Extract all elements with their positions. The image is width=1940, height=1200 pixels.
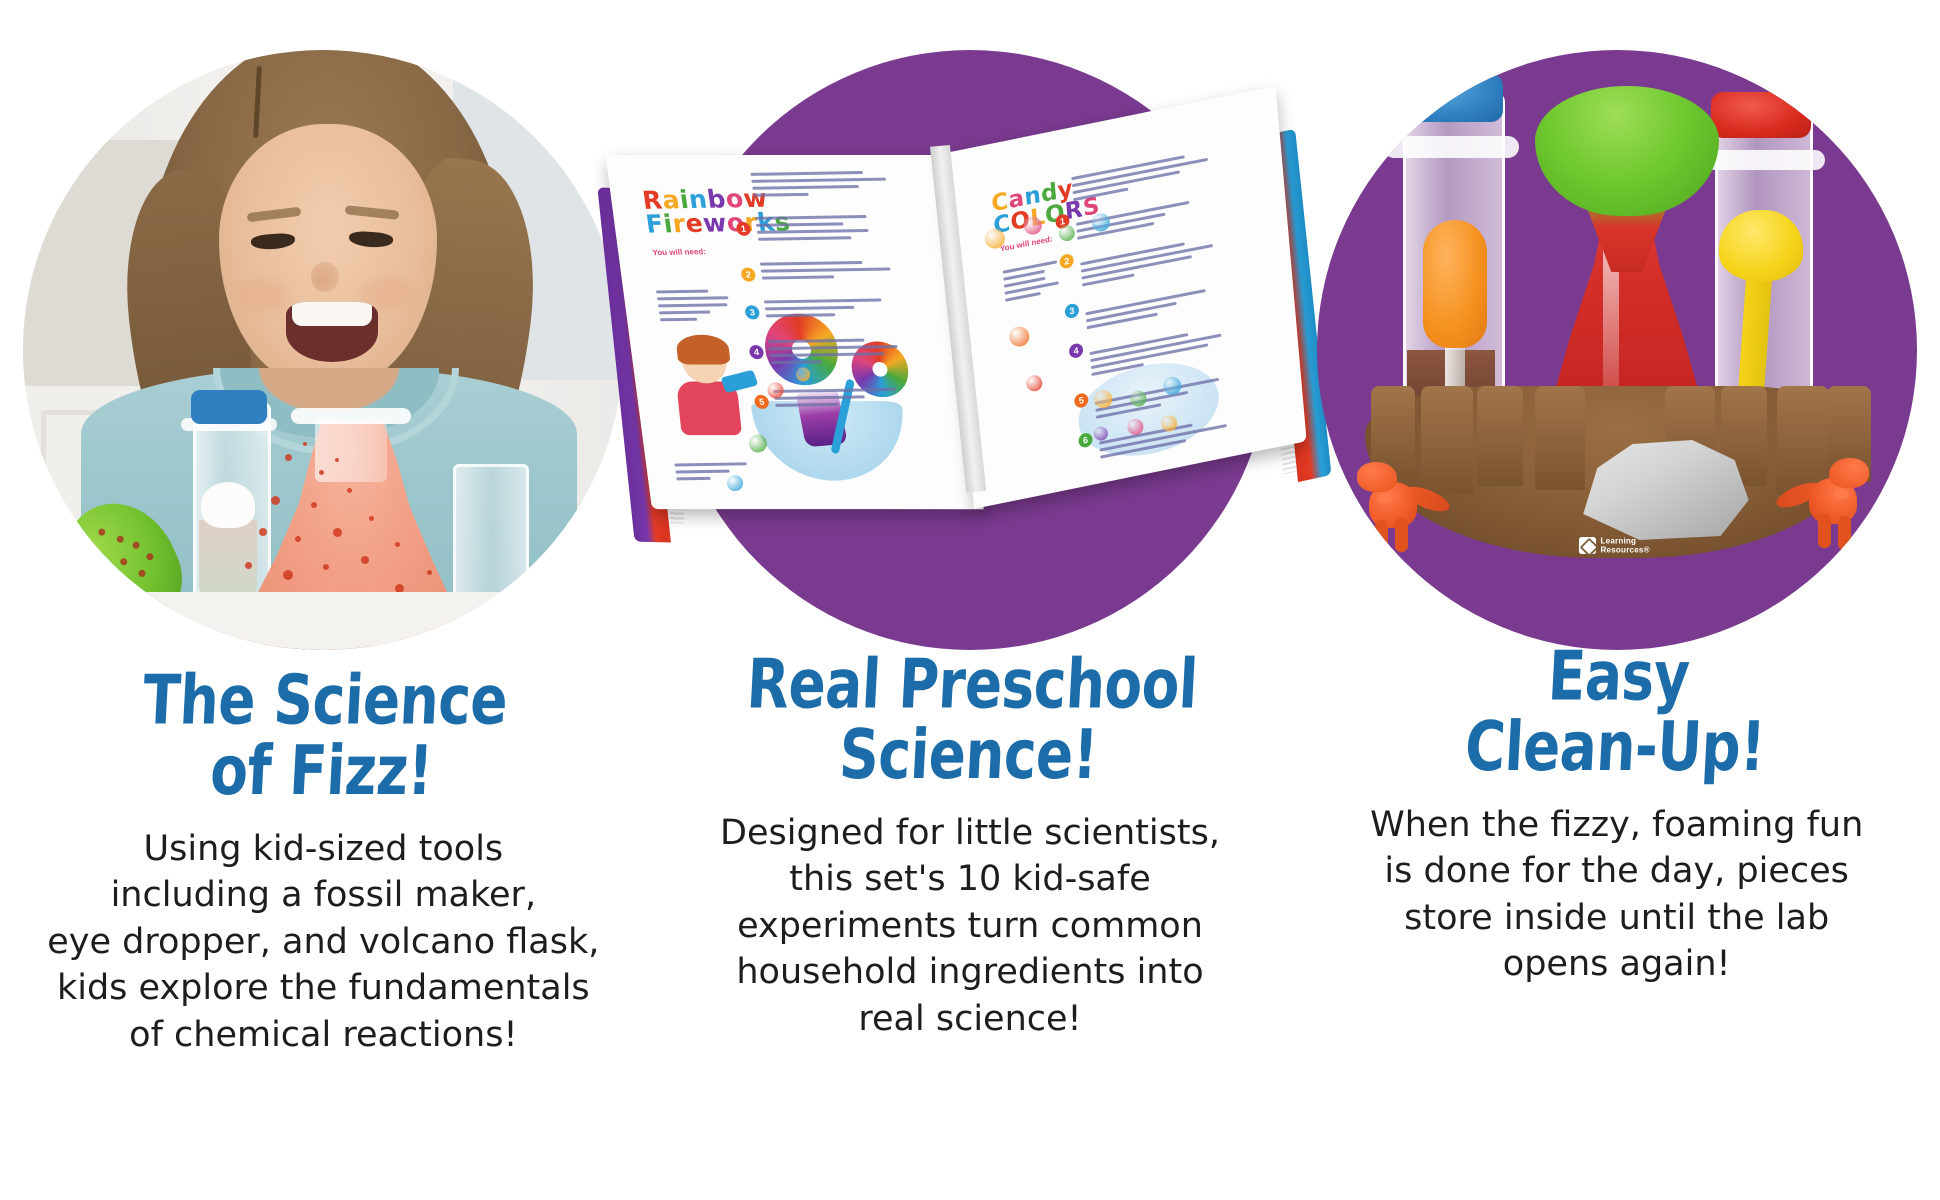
tray-wall-segment xyxy=(1535,386,1585,490)
feature-panels-board: Learning Resources® The Science of Fizz!… xyxy=(0,0,1940,1200)
balloon-speckle xyxy=(83,540,92,549)
volcano-flask-rim xyxy=(291,408,411,424)
book-text-line xyxy=(755,215,867,220)
foam-bubble xyxy=(335,458,339,462)
green-funnel xyxy=(1535,86,1719,216)
foam-bubble xyxy=(303,442,307,446)
test-tube-liquid xyxy=(199,520,257,598)
foam-bubble xyxy=(333,528,342,537)
column-body-real-preschool-science: Designed for little scientists, this set… xyxy=(720,810,1220,1043)
girl-cheek-left xyxy=(237,278,289,312)
blue-cap xyxy=(1399,74,1503,122)
book-text-line xyxy=(758,236,852,241)
dino-leg-right-a xyxy=(1838,516,1851,550)
column-heading-real-preschool-science: Real Preschool Science! xyxy=(741,650,1199,791)
balloon-speckle xyxy=(97,527,106,536)
book-text-line xyxy=(764,298,882,303)
volcano-lab-set-photo: Learning Resources® xyxy=(1317,50,1917,650)
book-text-line xyxy=(660,318,698,322)
foam-bubble xyxy=(323,564,329,570)
dino-leg-right-b xyxy=(1818,514,1831,548)
book-text-line xyxy=(659,310,710,314)
orange-dinosaur-right xyxy=(1789,454,1875,546)
book-text-block xyxy=(656,289,747,325)
book-text-line xyxy=(657,296,729,300)
heading-box-3: Easy Clean-Up! xyxy=(1467,650,1767,776)
brand-logo-line2-3: Resources® xyxy=(1600,546,1649,554)
blue-cap-tube-ring xyxy=(1383,136,1519,158)
foam-bubble xyxy=(395,542,400,547)
book-text-line xyxy=(771,360,823,364)
left-page-subtitle: You will need: xyxy=(652,247,707,257)
test-tube-foam xyxy=(201,482,255,528)
book-text-line xyxy=(756,222,844,226)
book-text-block xyxy=(764,298,917,321)
book-text-line xyxy=(752,185,859,190)
volcano-flask-neck xyxy=(315,418,387,482)
foam-bubble xyxy=(311,502,317,508)
foam-bubble xyxy=(271,496,280,505)
foam-bubble xyxy=(319,470,324,475)
book-text-line xyxy=(656,290,709,294)
book-text-line xyxy=(762,275,835,279)
foam-bubble xyxy=(347,488,352,493)
column-heading-science-of-fizz: The Science of Fizz! xyxy=(138,666,510,807)
brand-logo-photo3: Learning Resources® xyxy=(1579,537,1650,554)
foam-bubble xyxy=(245,562,252,569)
heading-box-1: The Science of Fizz! xyxy=(141,674,505,800)
balloon-speckle xyxy=(116,535,125,544)
feature-column-real-preschool-science: Rainbow Fireworks You will need: xyxy=(647,0,1294,1200)
balloon-speckle xyxy=(119,557,128,566)
book-text-block xyxy=(674,462,763,484)
girl-nose xyxy=(311,262,339,292)
book-text-block xyxy=(755,214,909,244)
orange-eye-dropper xyxy=(1423,220,1487,348)
girl-teeth xyxy=(292,302,372,326)
book-text-line xyxy=(760,261,863,266)
book-text-line xyxy=(675,470,730,474)
book-text-line xyxy=(775,403,839,407)
book-text-block xyxy=(750,170,910,201)
photo-wrap-1: Learning Resources® xyxy=(13,50,633,670)
kid-hair xyxy=(675,335,730,365)
dino-leg-left-b xyxy=(1395,518,1408,552)
dino-arm-right xyxy=(1834,490,1849,499)
yellow-spoon xyxy=(1719,210,1803,282)
book-text-line xyxy=(765,306,854,311)
foam-bubble xyxy=(285,454,292,461)
column-body-easy-clean-up: When the fizzy, foaming fun is done for … xyxy=(1370,802,1863,988)
dino-arm-left xyxy=(1377,494,1392,503)
balloon-speckle xyxy=(132,541,141,550)
feature-columns: Learning Resources® The Science of Fizz!… xyxy=(0,0,1940,1200)
brand-logo-text-3: Learning Resources® xyxy=(1600,537,1649,554)
open-activity-book: Rainbow Fireworks You will need: xyxy=(598,101,1338,592)
book-text-line xyxy=(770,352,885,357)
feature-column-science-of-fizz: Learning Resources® The Science of Fizz!… xyxy=(0,0,647,1200)
book-text-line xyxy=(674,462,747,466)
book-text-line xyxy=(753,193,808,197)
foam-bubble xyxy=(283,570,293,580)
book-illustration-kid xyxy=(664,340,752,435)
foam-bubble xyxy=(295,536,301,542)
balloon-speckle xyxy=(95,572,104,581)
foam-bubble xyxy=(369,516,374,521)
dino-head-right xyxy=(1829,458,1869,488)
balloon-speckle xyxy=(146,552,155,561)
feature-column-easy-clean-up: Learning Resources® Easy Clean-Up! When … xyxy=(1293,0,1940,1200)
balloon-speckle xyxy=(138,569,147,578)
book-text-line xyxy=(766,313,836,317)
balloon-speckle xyxy=(112,576,121,585)
book-text-line xyxy=(768,339,865,344)
girl-with-erupting-volcano-flask-photo: Learning Resources® xyxy=(23,50,623,650)
learning-resources-mark-icon-3 xyxy=(1579,537,1596,554)
dino-leg-left-a xyxy=(1375,520,1388,554)
book-text-line xyxy=(751,178,886,183)
orange-dinosaur-left xyxy=(1351,458,1437,550)
book-text-line xyxy=(750,171,863,176)
foam-bubble xyxy=(361,556,369,564)
book-text-line xyxy=(761,267,891,272)
tray-wall-segment xyxy=(1477,386,1523,486)
girl-open-smiling-mouth xyxy=(286,302,378,362)
red-cap xyxy=(1711,92,1811,138)
lab-set-group: Learning Resources® xyxy=(1317,50,1917,650)
book-text-block xyxy=(760,260,913,283)
book-text-line xyxy=(676,477,710,481)
book-text-line xyxy=(769,345,897,350)
dino-head-left xyxy=(1357,462,1397,492)
foam-bubble xyxy=(259,528,267,536)
foam-bubble xyxy=(427,570,432,575)
test-tube-blue-cap xyxy=(191,390,267,424)
book-text-block xyxy=(773,387,926,410)
column-body-science-of-fizz: Using kid-sized tools including a fossil… xyxy=(47,826,599,1059)
balloon-speckle xyxy=(98,558,107,567)
book-text-line xyxy=(757,229,869,234)
photo-wrap-2: Rainbow Fireworks You will need: xyxy=(660,50,1280,670)
book-text-line xyxy=(658,303,727,307)
book-text-line xyxy=(774,395,865,400)
column-heading-easy-clean-up: Easy Clean-Up! xyxy=(1463,642,1770,783)
heading-box-2: Real Preschool Science! xyxy=(745,658,1195,784)
book-text-block xyxy=(768,338,922,368)
counter-surface xyxy=(23,592,623,650)
photo-wrap-3: Learning Resources® xyxy=(1307,50,1927,670)
